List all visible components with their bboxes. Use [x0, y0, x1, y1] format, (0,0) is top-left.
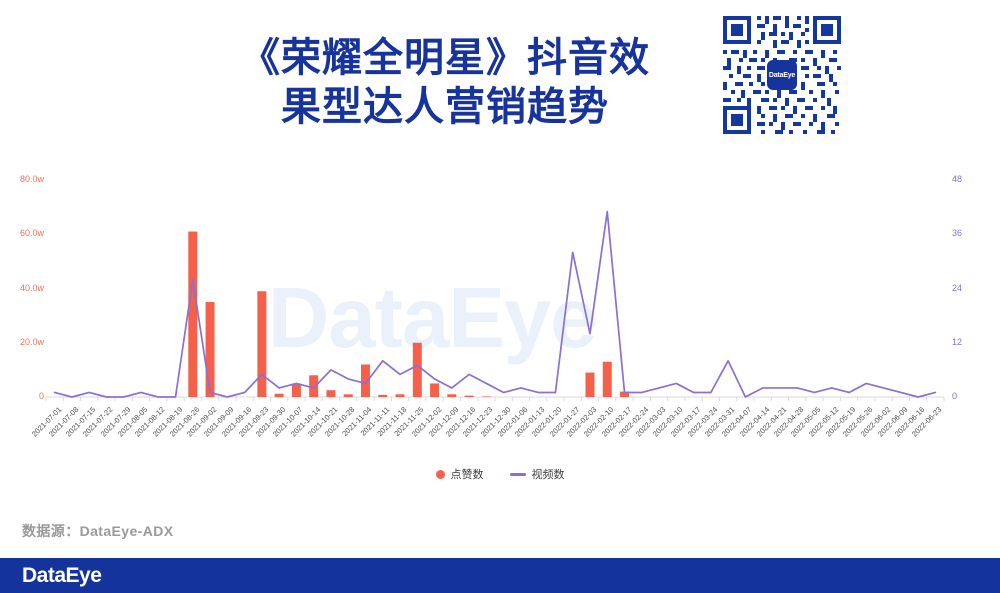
bar-2021-10-21 [326, 390, 335, 397]
bar-2021-09-02 [206, 302, 215, 397]
legend-label-videos: 视频数 [532, 466, 565, 482]
qr-code[interactable]: DataEye [717, 10, 847, 140]
right-axis-tick: 12 [952, 337, 982, 347]
footer-logo: DataEye [22, 564, 101, 588]
left-axis-tick: 80.0w [0, 174, 44, 184]
legend-item-likes[interactable]: 点赞数 [436, 466, 484, 482]
header: 《荣耀全明星》抖音效 果型达人营销趋势 [0, 0, 1000, 152]
data-source-text: 数据源：DataEye-ADX [22, 521, 173, 541]
bar-2021-08-26 [188, 232, 197, 397]
bar-2021-10-14 [309, 375, 318, 397]
right-axis-tick: 24 [952, 283, 982, 293]
left-axis-tick: 20.0w [0, 337, 44, 347]
bar-2021-11-04 [361, 364, 370, 397]
bar-2021-12-23 [482, 396, 491, 397]
left-axis-tick: 60.0w [0, 228, 44, 238]
chart-plot [0, 152, 1000, 510]
bar-2022-02-10 [603, 362, 612, 397]
chart: DataEye 020.0w40.0w60.0w80.0w 012243648 … [0, 152, 1000, 510]
bar-2021-09-23 [257, 291, 266, 397]
legend-item-videos[interactable]: 视频数 [510, 466, 565, 482]
bar-2021-12-09 [447, 394, 456, 397]
right-axis-tick: 0 [952, 391, 982, 401]
bar-2021-11-18 [396, 394, 405, 397]
legend-line-icon [510, 473, 526, 476]
bar-2021-10-28 [344, 394, 353, 397]
footer-bar [0, 558, 1000, 593]
bar-2021-11-11 [378, 395, 387, 397]
right-axis-tick: 48 [952, 174, 982, 184]
bar-2021-12-16 [465, 396, 474, 397]
left-axis-tick: 40.0w [0, 283, 44, 293]
bar-2021-10-07 [292, 383, 301, 397]
page-title-line-1: 《荣耀全明星》抖音效 [180, 34, 710, 83]
right-axis-tick: 36 [952, 228, 982, 238]
left-axis-tick: 0 [0, 391, 44, 401]
bar-2022-02-03 [585, 373, 594, 397]
page-title: 《荣耀全明星》抖音效 果型达人营销趋势 [180, 34, 710, 132]
bar-2021-11-25 [413, 343, 422, 397]
bar-2021-09-30 [275, 394, 284, 397]
qr-center-logo: DataEye [767, 60, 797, 90]
legend-label-likes: 点赞数 [451, 466, 484, 482]
chart-legend: 点赞数 视频数 [0, 466, 1000, 482]
page-title-line-2: 果型达人营销趋势 [180, 83, 710, 132]
legend-dot-icon [436, 470, 445, 479]
bar-2021-12-02 [430, 383, 439, 397]
